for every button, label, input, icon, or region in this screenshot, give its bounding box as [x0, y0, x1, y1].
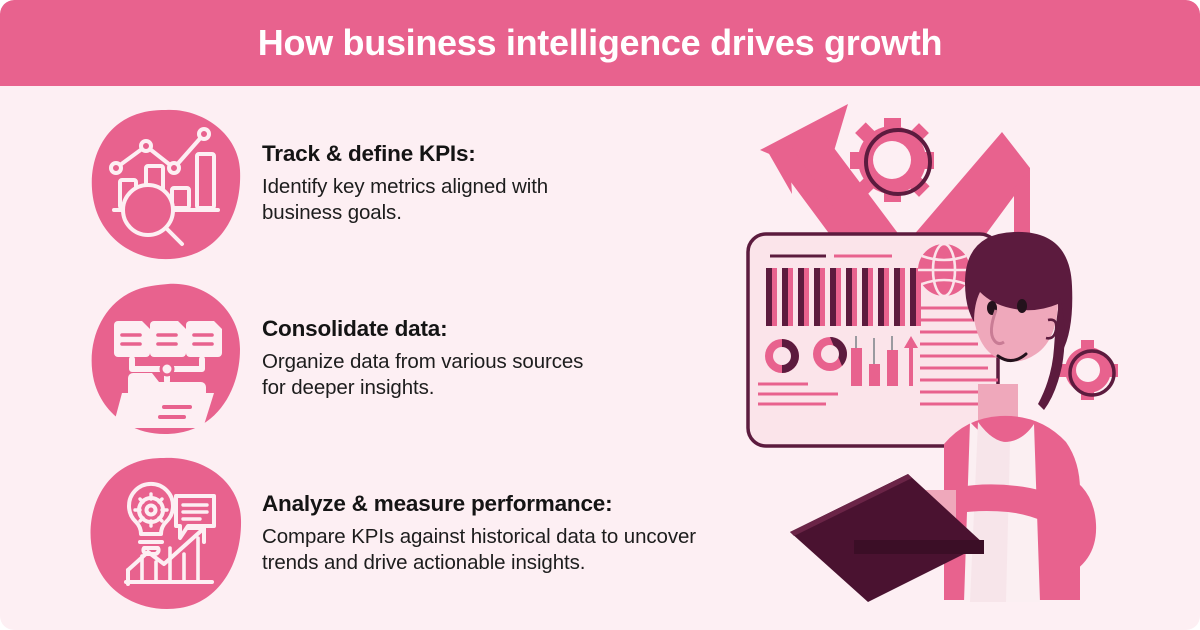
globe-icon [918, 244, 970, 296]
infographic-root: How business intelligence drives growth [0, 0, 1200, 630]
gear-small-right [1058, 340, 1118, 400]
list-item: Track & define KPIs: Identify key metric… [88, 104, 798, 279]
step-text: Consolidate data: Organize data from var… [262, 279, 583, 402]
step-description: Organize data from various sources for d… [262, 349, 583, 401]
lightbulb-gear-growth-icon [88, 456, 244, 612]
analytics-dashboard-panel [748, 234, 998, 446]
header-banner: How business intelligence drives growth [0, 0, 1200, 86]
steps-list: Track & define KPIs: Identify key metric… [88, 104, 798, 629]
step-description: Identify key metrics aligned with busine… [262, 174, 548, 226]
donut-chart-left [765, 339, 799, 373]
list-item: Consolidate data: Organize data from var… [88, 279, 798, 454]
gear-large [850, 118, 934, 202]
step-description: Compare KPIs against historical data to … [262, 524, 696, 576]
business-analyst-dashboard-illustration [730, 92, 1200, 630]
step-text: Track & define KPIs: Identify key metric… [262, 104, 548, 227]
kpi-chart-magnifier-icon [88, 106, 244, 262]
page-title: How business intelligence drives growth [258, 22, 942, 64]
step-title: Analyze & measure performance: [262, 490, 696, 518]
list-item: Analyze & measure performance: Compare K… [88, 454, 798, 629]
step-text: Analyze & measure performance: Compare K… [262, 454, 696, 577]
step-title: Track & define KPIs: [262, 140, 548, 168]
donut-chart-right [813, 337, 847, 371]
step-title: Consolidate data: [262, 315, 583, 343]
data-folder-network-icon [88, 281, 244, 437]
